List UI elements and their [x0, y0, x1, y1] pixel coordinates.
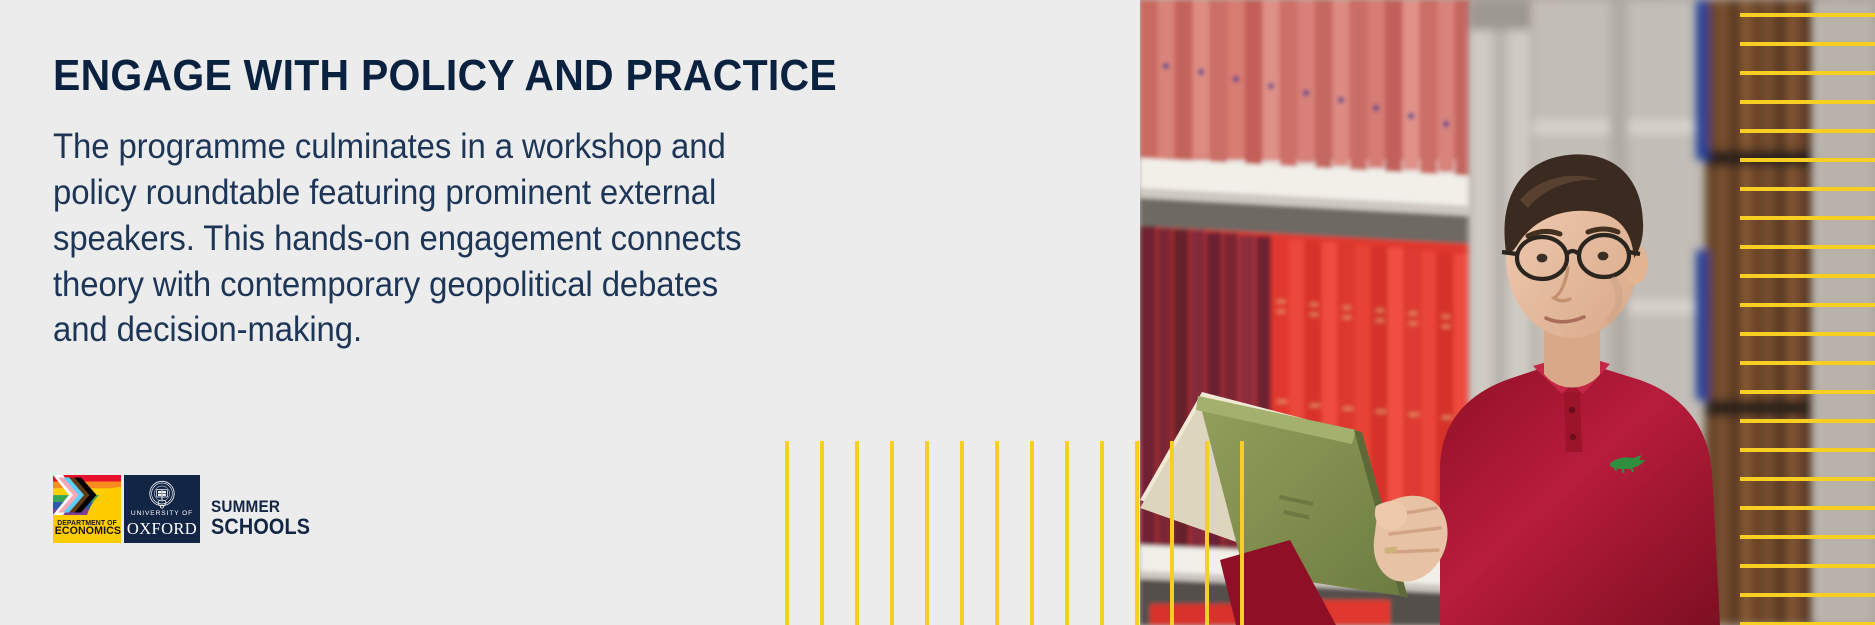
oxford-logo-text: UNIVERSITY OF OXFORD	[124, 511, 200, 537]
text-content: ENGAGE WITH POLICY AND PRACTICE The prog…	[53, 54, 853, 353]
text-panel: ENGAGE WITH POLICY AND PRACTICE The prog…	[0, 0, 1140, 625]
oxford-logo-line2: OXFORD	[124, 521, 200, 538]
logo-lockup[interactable]: DEPARTMENT OF ECONOMICS	[53, 475, 321, 543]
page-title: ENGAGE WITH POLICY AND PRACTICE	[53, 54, 797, 98]
summer-schools-line2: SCHOOLS	[211, 516, 310, 539]
body-paragraph: The programme culminates in a workshop a…	[53, 124, 767, 353]
progress-pride-flag-icon	[53, 475, 121, 515]
university-of-oxford-logo[interactable]: UNIVERSITY OF OXFORD	[124, 475, 200, 543]
economics-logo-line2: ECONOMICS	[55, 526, 120, 538]
department-of-economics-logo[interactable]: DEPARTMENT OF ECONOMICS	[53, 475, 121, 543]
library-student-photo	[1140, 0, 1875, 625]
summer-schools-wordmark[interactable]: SUMMER SCHOOLS	[200, 475, 321, 543]
oxford-logo-line1: UNIVERSITY OF	[124, 511, 200, 518]
promotional-banner: ENGAGE WITH POLICY AND PRACTICE The prog…	[0, 0, 1875, 625]
economics-logo-text: DEPARTMENT OF ECONOMICS	[53, 519, 121, 538]
